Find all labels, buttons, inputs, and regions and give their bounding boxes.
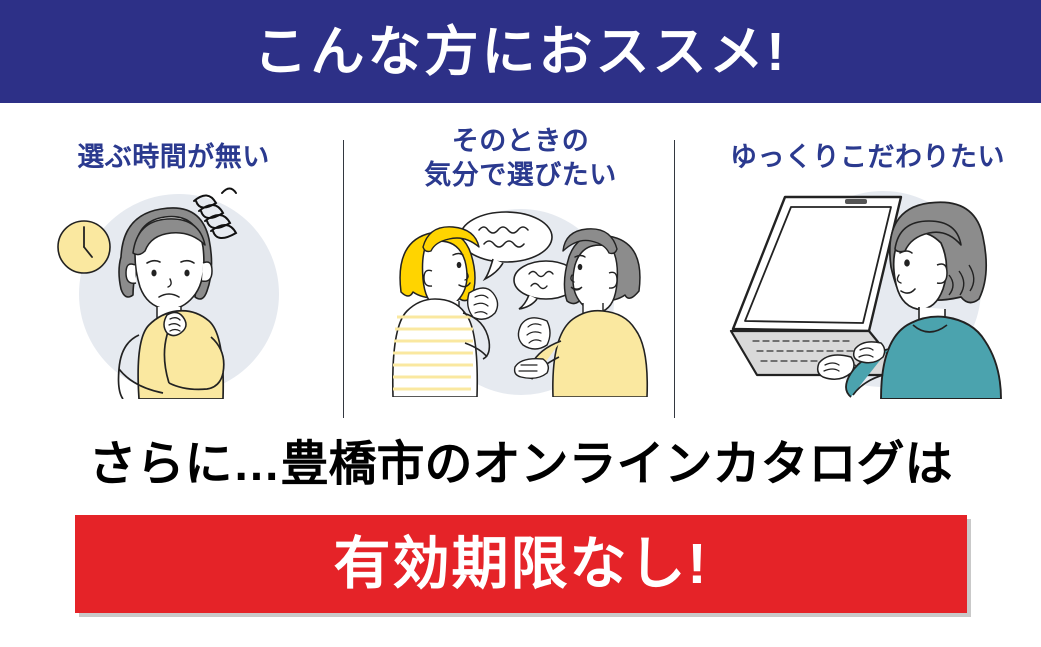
- column-3-heading: ゆっくりこだわりたい: [730, 141, 1005, 175]
- woman-with-laptop-illustration: [694, 179, 1041, 425]
- column-mood-choice: そのときの 気分で選びたい: [347, 103, 694, 425]
- bottom-headline: さらに…豊橋市のオンラインカタログは: [0, 437, 1041, 492]
- column-2-heading-line2: 気分で選びたい: [424, 160, 617, 190]
- red-banner: 有効期限なし!: [75, 515, 967, 613]
- two-women-talking-illustration: [347, 197, 694, 426]
- column-2-heading: そのときの 気分で選びたい: [424, 125, 617, 193]
- column-2-heading-line1: そのときの: [452, 126, 590, 156]
- columns-section: 選ぶ時間が無い: [0, 103, 1041, 425]
- red-banner-text: 有効期限なし!: [334, 536, 709, 593]
- promotional-graphic: こんな方におススメ! 選ぶ時間が無い: [0, 0, 1041, 647]
- header-title: こんな方におススメ!: [254, 25, 788, 79]
- column-take-time: ゆっくりこだわりたい: [694, 103, 1041, 425]
- column-1-heading: 選ぶ時間が無い: [77, 141, 270, 175]
- worried-woman-with-clock-illustration: [0, 179, 347, 425]
- column-no-time: 選ぶ時間が無い: [0, 103, 347, 425]
- header-banner: こんな方におススメ!: [0, 0, 1041, 103]
